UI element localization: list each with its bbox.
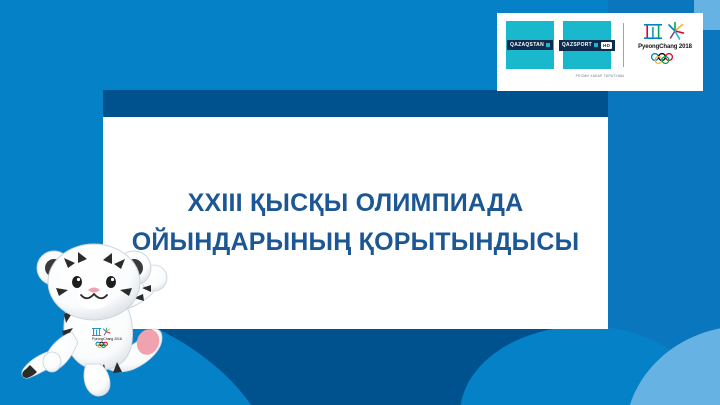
presentation-slide: XXIII ҚЫСҚЫ ОЛИМПИАДА ОЙЫНДАРЫНЫҢ ҚОРЫТЫ… (0, 0, 720, 405)
soohorang-mascot: PyeongChang 2018 (12, 236, 182, 401)
background-arc-clip (608, 292, 720, 328)
qazaqstan-logo-text: QAZAQSTAN (510, 42, 544, 48)
hd-badge: HD (601, 42, 612, 49)
broadcaster-logo-bar: QAZAQSTAN QAZSPORT HD (497, 13, 703, 91)
olympic-rings-icon (650, 51, 680, 69)
qazsport-logo-text: QAZSPORT (562, 42, 592, 48)
qazsport-square-icon (594, 43, 598, 47)
qazsport-logo-label: QAZSPORT HD (559, 40, 615, 51)
slide-title-line-1: XXIII ҚЫСҚЫ ОЛИМПИАДА (188, 184, 524, 223)
logo-divider (623, 23, 624, 67)
pyeongchang-logo-text: PyeongChang 2018 (638, 44, 692, 50)
logo-row: QAZAQSTAN QAZSPORT HD (506, 21, 694, 69)
svg-text:PyeongChang 2018: PyeongChang 2018 (92, 337, 122, 341)
qazsport-logo-tile: QAZSPORT HD (563, 21, 611, 69)
broadcaster-caption: РЕСМИ ХАБАР ТАРАТУШЫ (576, 74, 625, 78)
pyeongchang-logo: PyeongChang 2018 (636, 21, 694, 69)
qazaqstan-logo-label: QAZAQSTAN (507, 40, 553, 50)
slide-title-line-2: ОЙЫНДАРЫНЫҢ ҚОРЫТЫНДЫСЫ (132, 223, 580, 262)
qazaqstan-square-icon (546, 43, 550, 47)
pyeongchang-emblem-icon (642, 21, 688, 43)
qazaqstan-logo-tile: QAZAQSTAN (506, 21, 554, 69)
